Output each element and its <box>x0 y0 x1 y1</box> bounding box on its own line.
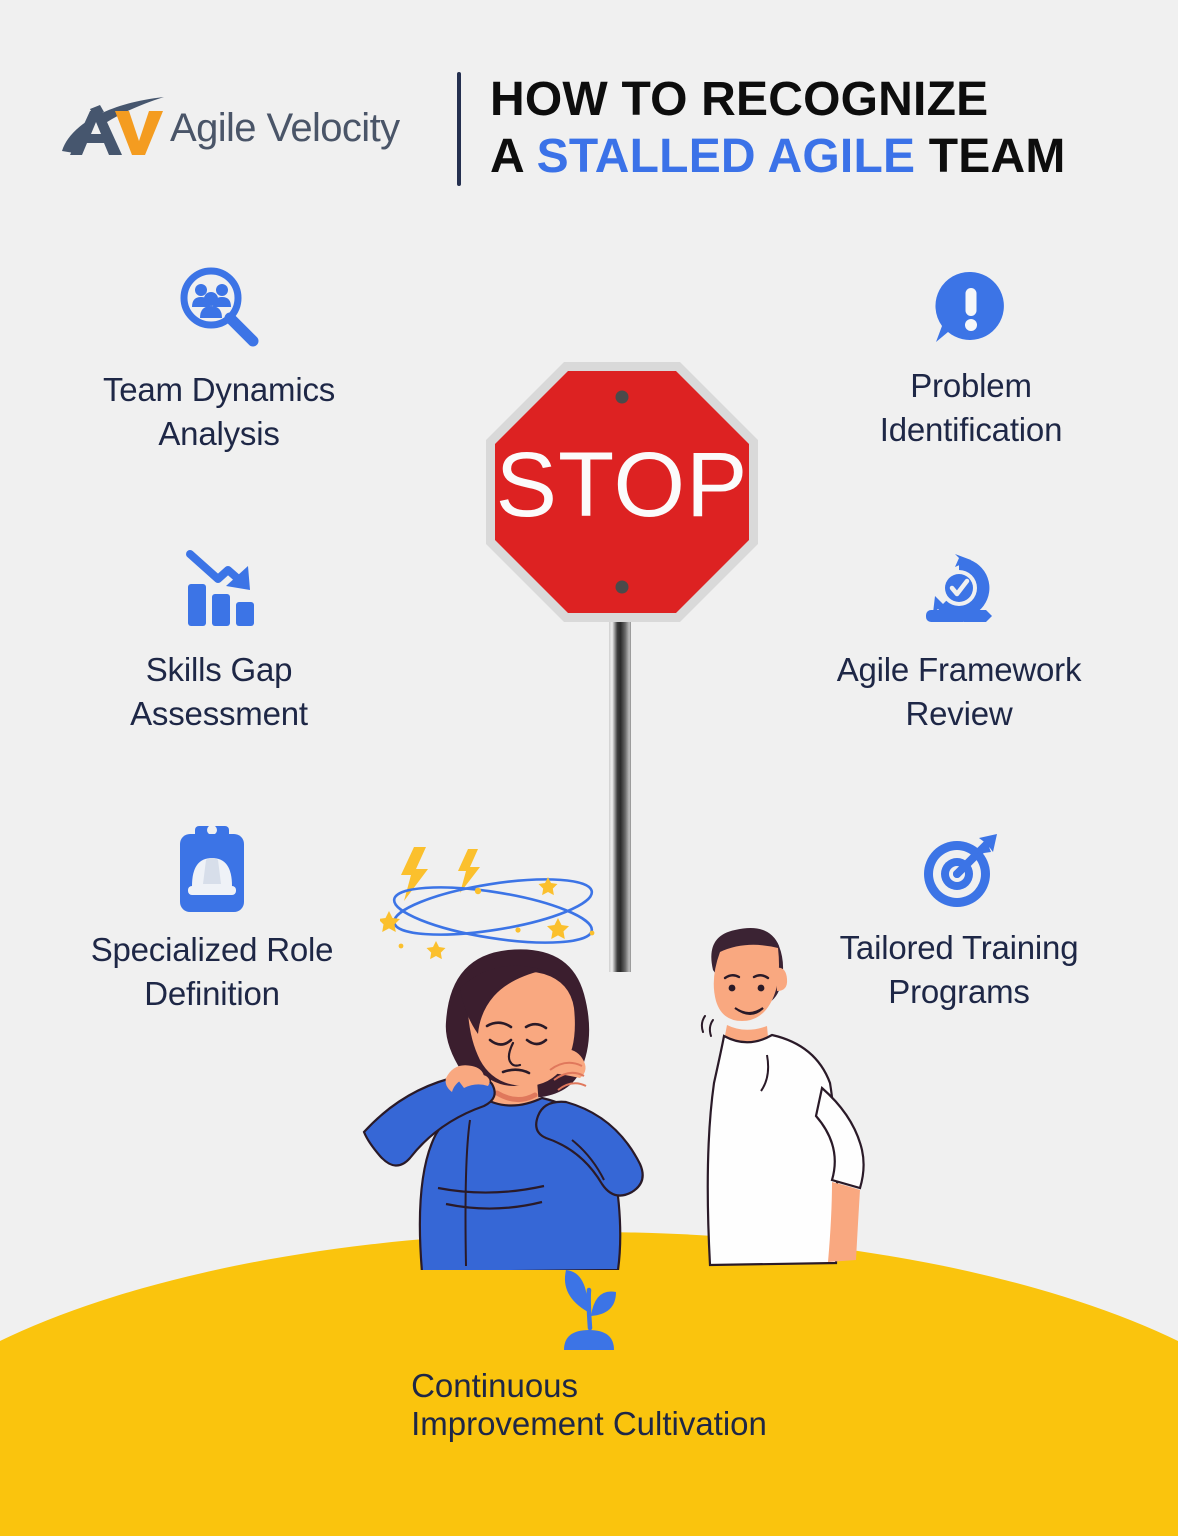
feature-tailored-training-programs: Tailored Training Programs <box>794 820 1124 1013</box>
target-dart-icon <box>917 820 1001 912</box>
label-line-2: Definition <box>144 975 280 1012</box>
infographic-poster: Agile Velocity HOW TO RECOGNIZE A STALLE… <box>0 0 1178 1536</box>
feature-label: Agile Framework Review <box>837 648 1082 735</box>
title-highlight: STALLED AGILE <box>537 130 916 183</box>
label-line-2: Review <box>905 695 1012 732</box>
declining-bar-chart-icon <box>176 542 262 634</box>
feature-label: Tailored Training Programs <box>840 926 1079 1013</box>
title-post: TEAM <box>915 130 1065 183</box>
agile-velocity-logo: Agile Velocity <box>60 88 440 168</box>
frustrated-woman-figure <box>364 949 643 1270</box>
feature-label: Team Dynamics Analysis <box>103 368 335 455</box>
title-line-2: A STALLED AGILE TEAM <box>490 129 1150 186</box>
feature-specialized-role-definition: Specialized Role Definition <box>47 822 377 1015</box>
label-line-2: Programs <box>888 973 1029 1010</box>
label-line-1: Specialized Role <box>91 931 334 968</box>
av-monogram-icon <box>60 95 168 161</box>
feature-agile-framework-review: Agile Framework Review <box>794 542 1124 735</box>
label-line-1: Team Dynamics <box>103 371 335 408</box>
cycle-checkmark-icon <box>914 542 1004 634</box>
feature-problem-identification: Problem Identification <box>806 258 1136 451</box>
feature-label: Specialized Role Definition <box>91 928 334 1015</box>
feature-skills-gap-assessment: Skills Gap Assessment <box>54 542 384 735</box>
clipboard-hardhat-icon <box>168 822 256 914</box>
sprout-plant-icon <box>550 1268 628 1367</box>
label-line-2: Improvement Cultivation <box>411 1405 767 1442</box>
feature-team-dynamics-analysis: Team Dynamics Analysis <box>54 262 384 455</box>
title-pre: A <box>490 130 537 183</box>
label-line-1: Continuous <box>411 1367 578 1404</box>
logo-wordmark: Agile Velocity <box>170 106 400 151</box>
feature-label: Continuous Improvement Cultivation <box>411 1367 767 1443</box>
label-line-1: Skills Gap <box>146 651 293 688</box>
speech-bubble-exclamation-icon <box>930 258 1012 350</box>
label-line-2: Identification <box>880 411 1063 448</box>
label-line-1: Agile Framework <box>837 651 1082 688</box>
label-line-2: Assessment <box>130 695 308 732</box>
poster-header: Agile Velocity HOW TO RECOGNIZE A STALLE… <box>0 0 1178 210</box>
label-line-1: Problem <box>910 367 1031 404</box>
feature-continuous-improvement-cultivation: Continuous Improvement Cultivation <box>289 1268 889 1443</box>
stop-sign-icon: STOP <box>482 358 762 626</box>
magnifier-people-icon <box>173 262 265 354</box>
title-line-1: HOW TO RECOGNIZE <box>490 72 1150 129</box>
feature-label: Skills Gap Assessment <box>130 648 308 735</box>
label-line-1: Tailored Training <box>840 929 1079 966</box>
header-divider <box>457 72 461 186</box>
poster-title: HOW TO RECOGNIZE A STALLED AGILE TEAM <box>490 72 1150 185</box>
feature-label: Problem Identification <box>880 364 1063 451</box>
stop-sign-text: STOP <box>496 434 749 536</box>
label-line-2: Analysis <box>158 415 279 452</box>
